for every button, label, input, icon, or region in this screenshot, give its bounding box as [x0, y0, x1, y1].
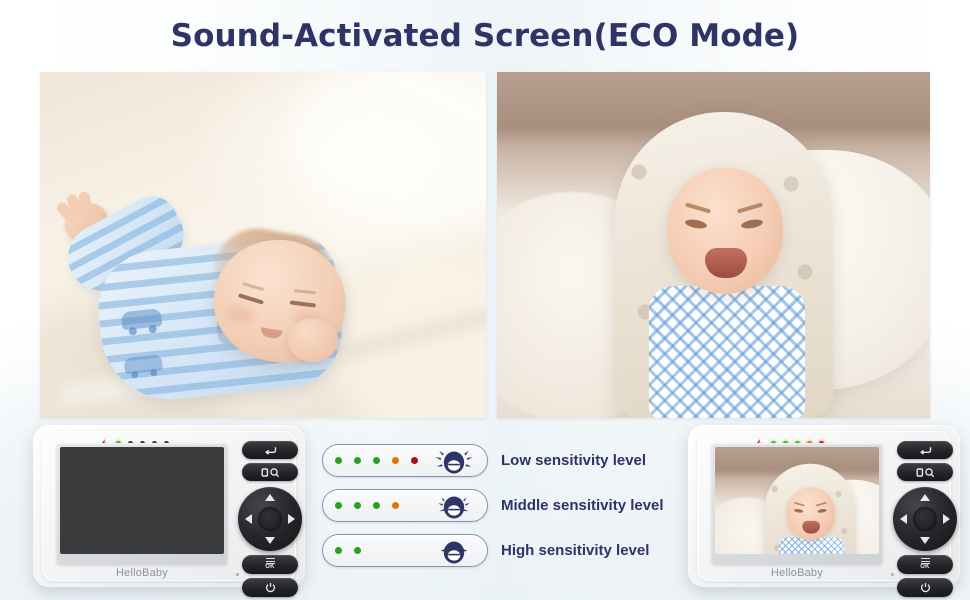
sleeping-baby-photo [40, 72, 486, 418]
dpad-center-button[interactable] [913, 507, 937, 531]
crying-baby-face-icon [431, 447, 477, 475]
baby-fist [288, 318, 338, 362]
page-title: Sound-Activated Screen(ECO Mode) [0, 18, 970, 54]
page-root: Sound-Activated Screen(ECO Mode) [0, 0, 970, 600]
sensitivity-pill-low[interactable] [322, 444, 488, 477]
monitor-display-on[interactable] [715, 447, 879, 554]
return-arrow-icon [264, 446, 277, 455]
triangle-left-icon[interactable] [245, 514, 252, 524]
menu-ok-button[interactable]: OK [242, 555, 298, 574]
level-dot [392, 502, 399, 509]
back-button[interactable] [242, 441, 298, 459]
power-button[interactable] [242, 578, 298, 597]
level-dot [392, 457, 399, 464]
camera-zoom-button[interactable] [897, 463, 953, 481]
return-arrow-icon [919, 446, 932, 455]
crying-baby-photo [497, 72, 930, 418]
sensitivity-pill-high[interactable] [322, 534, 488, 567]
level-dot [373, 457, 380, 464]
level-dot [411, 457, 418, 464]
triangle-left-icon[interactable] [900, 514, 907, 524]
back-button[interactable] [897, 441, 953, 459]
level-dot [354, 457, 361, 464]
dpad-center-button[interactable] [258, 507, 282, 531]
screen-bezel [56, 443, 228, 565]
level-dots-high [335, 547, 361, 554]
power-icon [265, 582, 276, 593]
crying-baby-face-icon [431, 537, 477, 565]
monitor-screen-on[interactable]: HelloBaby [680, 425, 970, 585]
triangle-up-icon[interactable] [920, 494, 930, 501]
menu-ok-button[interactable]: OK [897, 555, 953, 574]
triangle-right-icon[interactable] [943, 514, 950, 524]
level-dot [373, 502, 380, 509]
level-dots-middle [335, 502, 399, 509]
screen-bezel [711, 443, 883, 565]
level-dot [354, 502, 361, 509]
camera-magnifier-icon [258, 467, 282, 478]
level-dots-low [335, 457, 418, 464]
camera-magnifier-icon [913, 467, 937, 478]
dpad-control[interactable] [893, 487, 957, 551]
camera-zoom-button[interactable] [242, 463, 298, 481]
triangle-right-icon[interactable] [288, 514, 295, 524]
level-dot [335, 547, 342, 554]
triangle-down-icon[interactable] [265, 537, 275, 544]
dpad-control[interactable] [238, 487, 302, 551]
sensitivity-pill-middle[interactable] [322, 489, 488, 522]
crying-baby-face-icon [431, 492, 477, 520]
brand-label: HelloBaby [56, 567, 228, 579]
level-dot [354, 547, 361, 554]
legend-label-high: High sensitivity level [501, 542, 649, 559]
triangle-down-icon[interactable] [920, 537, 930, 544]
legend-row-low: Low sensitivity level [322, 444, 646, 477]
legend-row-middle: Middle sensitivity level [322, 489, 664, 522]
triangle-up-icon[interactable] [265, 494, 275, 501]
baby-bib [649, 286, 805, 418]
sensitivity-legend: Low sensitivity level [322, 440, 662, 580]
power-icon [920, 582, 931, 593]
level-dot [335, 457, 342, 464]
ok-label: OK [265, 564, 275, 571]
legend-label-low: Low sensitivity level [501, 452, 646, 469]
ok-label: OK [920, 564, 930, 571]
legend-label-middle: Middle sensitivity level [501, 497, 664, 514]
monitor-screen-off[interactable]: HelloBaby [25, 425, 315, 585]
legend-row-high: High sensitivity level [322, 534, 649, 567]
brand-label: HelloBaby [711, 567, 883, 579]
monitor-display-off[interactable] [60, 447, 224, 554]
level-dot [335, 502, 342, 509]
power-button[interactable] [897, 578, 953, 597]
